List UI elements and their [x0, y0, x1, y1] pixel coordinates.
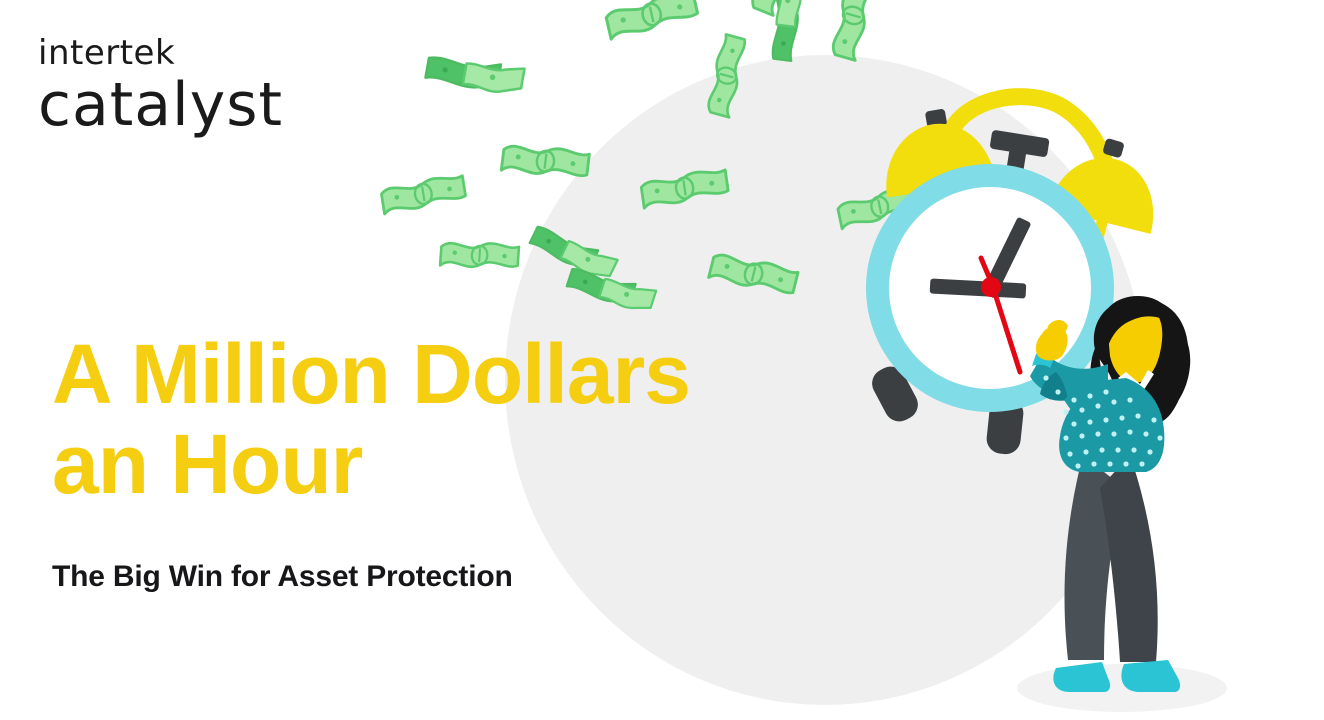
- logo-intertek-text: intertek: [38, 36, 338, 70]
- promo-banner: intertek catalyst A Million Dollars an H…: [0, 0, 1324, 720]
- headline-line-2: an Hour: [52, 420, 852, 510]
- headline-line-1: A Million Dollars: [52, 330, 852, 420]
- brand-logo[interactable]: intertek catalyst: [38, 36, 338, 137]
- page-subtitle: The Big Win for Asset Protection: [52, 560, 513, 594]
- logo-catalyst-text: catalyst: [38, 74, 338, 137]
- page-title: A Million Dollars an Hour: [52, 330, 852, 510]
